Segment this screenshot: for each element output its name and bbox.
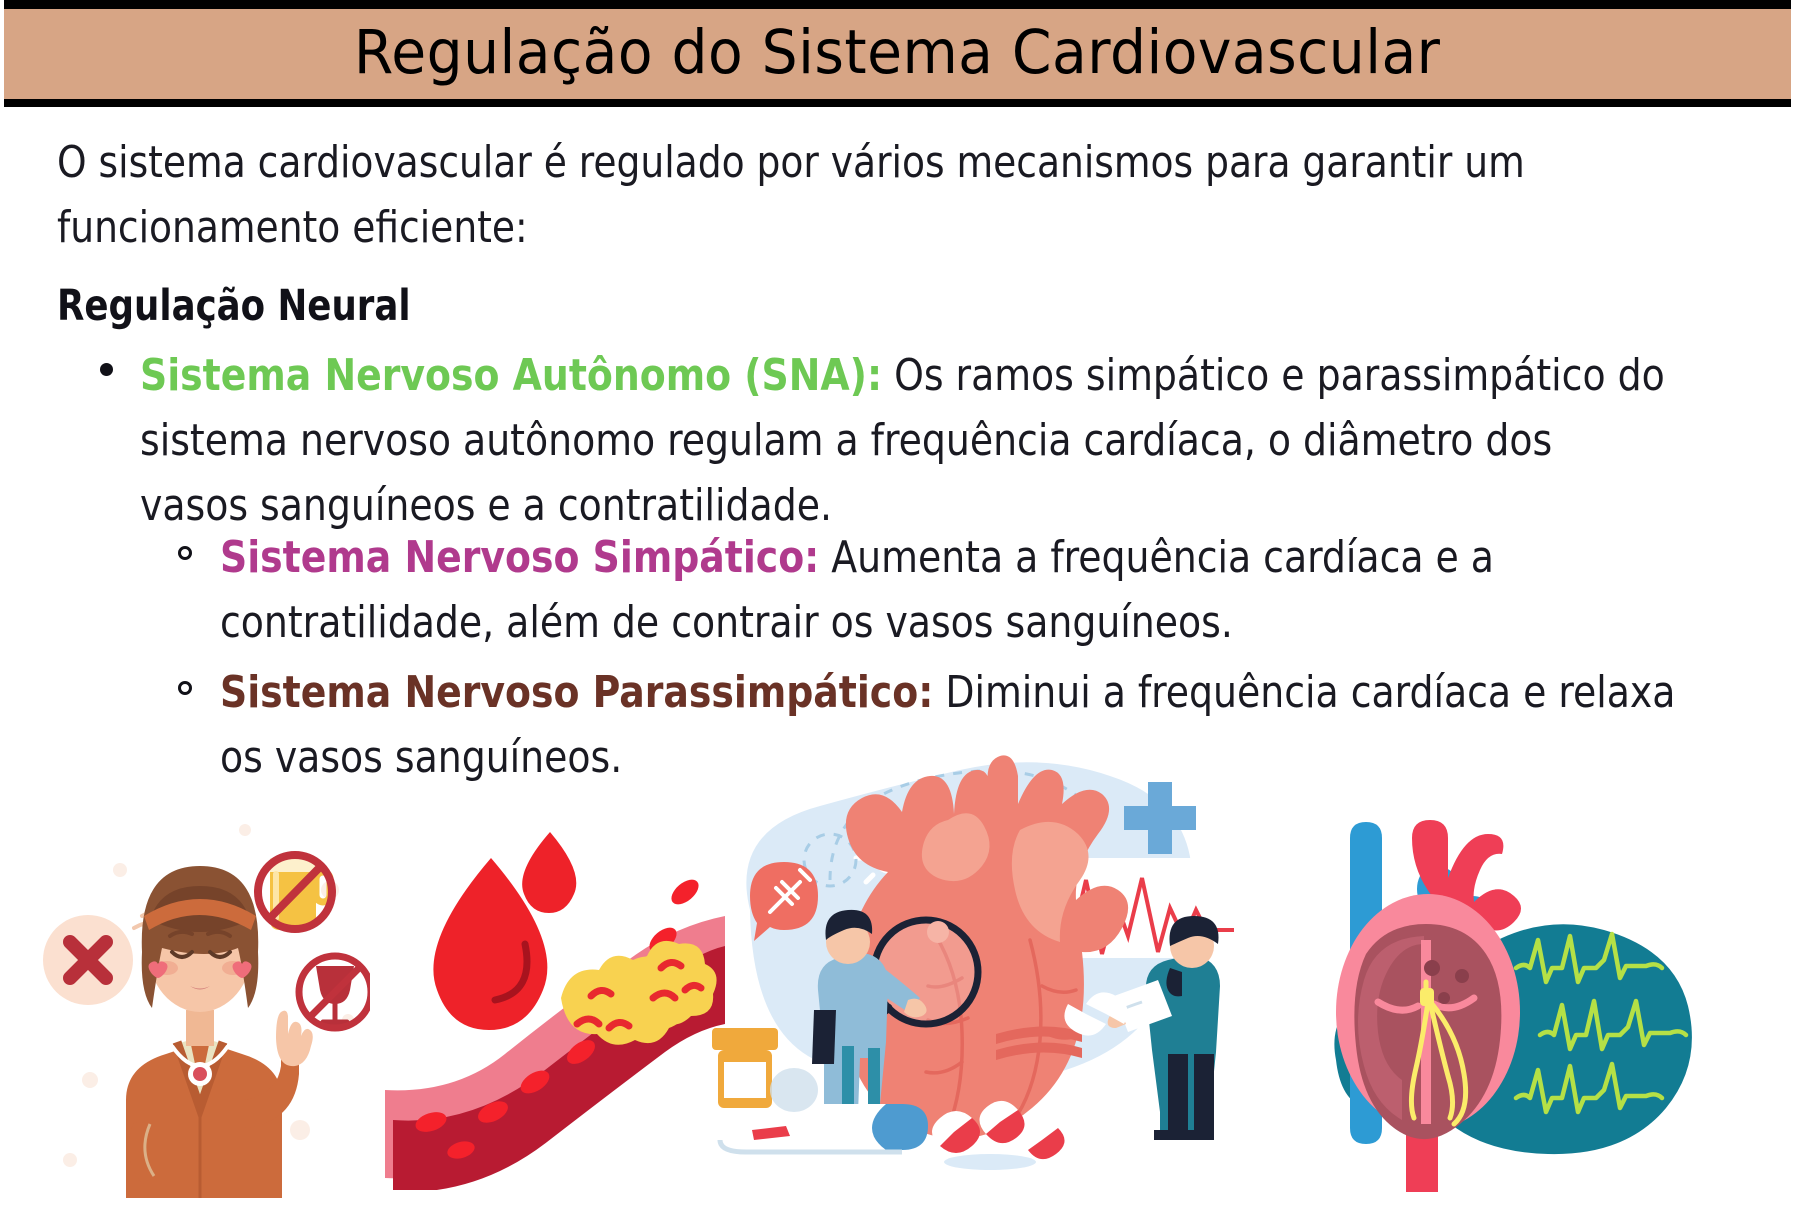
subbullet-text: Sistema Nervoso Simpático: Aumenta a fre… (220, 525, 1689, 655)
list-item: Sistema Nervoso Parassimpático: Diminui … (178, 660, 1758, 790)
slide-body: O sistema cardiovascular é regulado por … (0, 107, 1795, 1205)
subbullet-lead-label: Sistema Nervoso Parassimpático: (220, 667, 933, 718)
page-title: Regulação do Sistema Cardiovascular (354, 22, 1441, 87)
section-heading-regulacao-neural: Regulação Neural (57, 285, 411, 328)
bullet-disc-icon (100, 363, 113, 376)
bullet-circle-icon (178, 681, 192, 695)
subbullet-lead-label: Sistema Nervoso Simpático: (220, 532, 819, 583)
bullet-circle-icon (178, 546, 192, 560)
bullet-lead-label: Sistema Nervoso Autônomo (SNA): (140, 350, 882, 401)
slide-title-banner: Regulação do Sistema Cardiovascular (4, 0, 1791, 107)
list-item: Sistema Nervoso Simpático: Aumenta a fre… (178, 525, 1758, 655)
list-item: Sistema Nervoso Autônomo (SNA): Os ramos… (100, 343, 1740, 538)
subbullet-text: Sistema Nervoso Parassimpático: Diminui … (220, 660, 1689, 790)
bullet-text: Sistema Nervoso Autônomo (SNA): Os ramos… (140, 343, 1668, 538)
intro-paragraph: O sistema cardiovascular é regulado por … (57, 130, 1596, 260)
